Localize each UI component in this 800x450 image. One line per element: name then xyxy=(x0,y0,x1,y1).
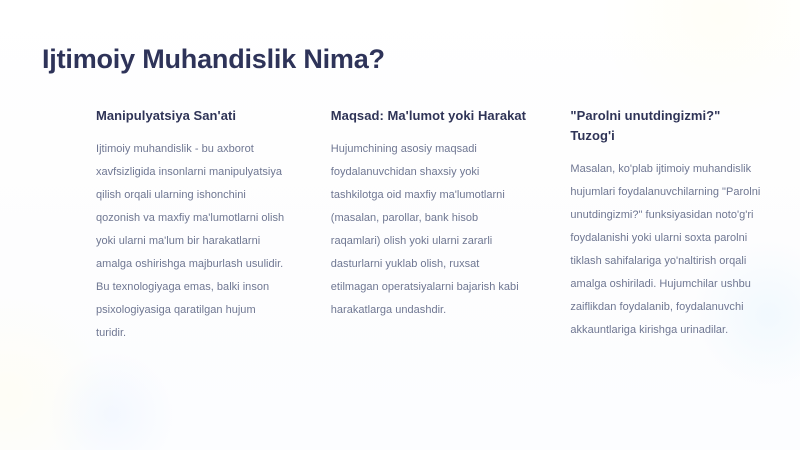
column-body-2: Hujumchining asosiy maqsadi foydalanuvch… xyxy=(331,138,527,322)
content-column-2: Maqsad: Ma'lumot yoki Harakat Hujumchini… xyxy=(331,106,571,322)
slide-canvas: Ijtimoiy Muhandislik Nima? Manipulyatsiy… xyxy=(0,0,800,450)
column-heading-2: Maqsad: Ma'lumot yoki Harakat xyxy=(331,106,527,126)
content-columns: Manipulyatsiya San'ati Ijtimoiy muhandis… xyxy=(96,106,778,345)
column-body-3: Masalan, ko'plab ijtimoiy muhandislik hu… xyxy=(570,158,766,342)
content-column-3: "Parolni unutdingizmi?" Tuzog'i Masalan,… xyxy=(570,106,778,342)
content-column-1: Manipulyatsiya San'ati Ijtimoiy muhandis… xyxy=(96,106,331,345)
page-title: Ijtimoiy Muhandislik Nima? xyxy=(42,44,385,76)
column-heading-1: Manipulyatsiya San'ati xyxy=(96,106,287,126)
column-heading-3: "Parolni unutdingizmi?" Tuzog'i xyxy=(570,106,766,146)
column-body-1: Ijtimoiy muhandislik - bu axborot xavfsi… xyxy=(96,138,287,345)
